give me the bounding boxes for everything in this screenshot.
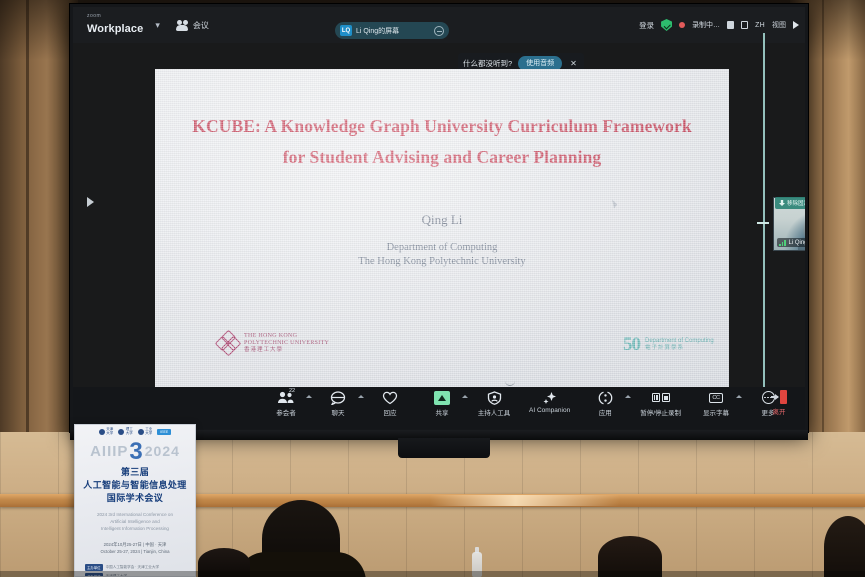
sponsor-logo-1: 天津大学 <box>99 428 114 435</box>
toolbar-chat-label: 聊天 <box>332 407 345 417</box>
login-button[interactable]: 登录 <box>639 20 654 31</box>
polyu-diamond-logo-icon <box>217 332 239 354</box>
chevron-down-icon[interactable] <box>306 395 312 398</box>
toolbar-ai-companion[interactable]: AI Companion <box>529 390 570 414</box>
poster-cn-line1: 第三届 <box>75 466 195 479</box>
zoom-logo-big: Workplace <box>87 23 143 35</box>
computing-logo-text: Department of Computing 電子計算學系 <box>645 338 714 352</box>
conference-room-photo: zoom Workplace ▾ 会议 登录 录制中… ZH 视图 <box>0 0 865 577</box>
shield-check-icon[interactable] <box>661 19 672 31</box>
poster-en-line3: Intelligent Information Processing <box>84 526 186 533</box>
meeting-indicator[interactable]: 会议 <box>176 20 209 31</box>
slide-title-line1: KCUBE: A Knowledge Graph University Curr… <box>181 111 703 142</box>
participants-count: 22 <box>289 388 295 394</box>
zoom-meeting-screen: zoom Workplace ▾ 会议 登录 录制中… ZH 视图 <box>73 7 805 429</box>
display-stand <box>398 438 490 458</box>
slide-author: Qing Li <box>155 212 729 228</box>
anniversary-number: 50 <box>623 335 640 354</box>
remove-pin-video-button[interactable]: 移除固定视频 <box>775 197 805 209</box>
record-dot-icon <box>679 22 685 28</box>
polyu-logo: The Hong Kong Polytechnic University 香港理… <box>217 332 329 354</box>
polyu-logo-text: The Hong Kong Polytechnic University 香港理… <box>244 333 329 354</box>
chevron-down-icon[interactable]: ▾ <box>155 20 160 31</box>
mouse-cursor-icon <box>612 199 618 209</box>
participant-name: Li Qing <box>789 240 806 246</box>
toolbar-captions[interactable]: CC 显示字幕 <box>699 390 733 417</box>
reactions-icon <box>381 390 399 405</box>
poster-date: 2024年10月25-27日 | 中国 · 天津 October 25-27, … <box>75 542 195 556</box>
leave-meeting-icon <box>771 390 787 404</box>
poster-cn-line3: 国际学术会议 <box>75 492 195 505</box>
view-button-label[interactable]: 视图 <box>772 20 786 30</box>
polyu-line3: 香港理工大學 <box>244 347 329 353</box>
audience-person <box>262 500 340 577</box>
audio-banner-text: 什么都没听到? <box>463 58 512 69</box>
panel-outline-icon[interactable] <box>741 21 748 29</box>
chevron-down-icon[interactable] <box>462 395 468 398</box>
recording-status-label: 录制中… <box>692 20 720 30</box>
zoom-logo-small: zoom <box>87 14 143 19</box>
polyu-line2: Polytechnic University <box>244 340 329 347</box>
host-tools-icon <box>485 390 503 405</box>
topbar-right-cluster: 登录 录制中… ZH 视图 <box>639 7 799 43</box>
computing-dept-logo: 50 Department of Computing 電子計算學系 <box>623 335 714 354</box>
toolbar-apps[interactable]: 应用 <box>588 390 622 417</box>
poster-date-en: October 25-27, 2024 | Tianjin, China <box>75 549 195 556</box>
poster-cn-line2: 人工智能与智能信息处理 <box>75 479 195 492</box>
toolbar-recording[interactable]: 暂停/停止录制 <box>640 390 681 417</box>
chevron-down-icon[interactable] <box>625 395 631 398</box>
captions-icon: CC <box>707 390 725 405</box>
toolbar-apps-label: 应用 <box>599 407 612 417</box>
play-triangle-icon[interactable] <box>793 21 799 29</box>
avatar: LQ <box>340 25 352 36</box>
poster-sponsor-logos: 天津大学 理工大学 工业大学 IEEE <box>75 425 195 438</box>
recording-icon <box>652 390 670 405</box>
desk-edge <box>0 571 865 577</box>
poster-year: 2024 <box>145 443 180 459</box>
shared-slide: KCUBE: A Knowledge Graph University Curr… <box>155 69 729 391</box>
sponsor-logo-3: 工业大学 <box>138 428 153 435</box>
poster-date-cn: 2024年10月25-27日 | 中国 · 天津 <box>75 542 195 549</box>
screen-share-label: Li Qing的屏幕 <box>356 26 430 36</box>
zoom-bottom-toolbar: 22 参会者 聊天 <box>73 387 805 429</box>
conference-poster: 天津大学 理工大学 工业大学 IEEE AIIIP32024 第三届 人工智能与… <box>74 424 196 577</box>
poster-brand: AIIIP32024 <box>75 440 195 462</box>
sponsor-logo-4: IEEE <box>157 429 171 435</box>
wall-display: zoom Workplace ▾ 会议 登录 录制中… ZH 视图 <box>70 4 808 432</box>
toolbar-host-tools-label: 主持人工具 <box>478 407 511 417</box>
toolbar-ai-companion-label: AI Companion <box>529 407 570 414</box>
toolbar-recording-label: 暂停/停止录制 <box>640 407 681 417</box>
toolbar-chat[interactable]: 聊天 <box>321 390 355 417</box>
video-tile-actions: 移除固定视频 取消固定 <box>775 197 805 209</box>
slide-title-line2: for Student Advising and Career Planning <box>181 142 703 173</box>
computing-line2: 電子計算學系 <box>645 345 714 352</box>
screen-share-indicator[interactable]: LQ Li Qing的屏幕 <box>335 22 449 39</box>
toolbar-host-tools[interactable]: 主持人工具 <box>477 390 511 417</box>
toolbar-items: 22 参会者 聊天 <box>269 390 785 417</box>
poster-title-en: 2024 3rd International Conference on Art… <box>75 512 195 533</box>
toolbar-participants[interactable]: 22 参会者 <box>269 390 303 417</box>
people-icon <box>176 20 189 31</box>
zoom-logo: zoom Workplace <box>87 14 143 36</box>
audience-person <box>824 516 865 577</box>
computing-line1: Department of Computing <box>645 338 714 345</box>
minus-circle-icon[interactable] <box>434 26 444 36</box>
poster-brand-text: AIIIP <box>90 443 128 460</box>
sponsor-logo-2: 理工大学 <box>118 428 133 435</box>
chevron-down-icon[interactable] <box>358 395 364 398</box>
poster-en-line1: 2024 3rd International Conference on <box>84 512 186 519</box>
wall-trim-glint <box>430 495 620 506</box>
close-icon[interactable]: ✕ <box>568 59 579 68</box>
apps-icon <box>596 390 614 405</box>
toolbar-participants-label: 参会者 <box>276 407 296 417</box>
share-screen-icon <box>433 390 451 405</box>
leave-meeting-label: 离开 <box>773 406 786 416</box>
toolbar-share-screen[interactable]: 共享 <box>425 390 459 417</box>
organizer-tag: 主办单位 <box>85 564 103 571</box>
drag-handle-icon[interactable] <box>757 222 769 224</box>
slide-affiliation: Department of Computing The Hong Kong Po… <box>155 241 729 269</box>
polyu-line1: The Hong Kong <box>244 333 329 340</box>
audio-level-icon <box>779 239 786 246</box>
meeting-label: 会议 <box>193 20 209 31</box>
panel-filled-icon[interactable] <box>727 21 734 29</box>
slide-title: KCUBE: A Knowledge Graph University Curr… <box>181 111 703 172</box>
ai-companion-icon <box>541 390 559 405</box>
participant-name-badge: Li Qing <box>777 238 805 247</box>
toolbar-reactions-label: 回应 <box>384 407 397 417</box>
toolbar-captions-label: 显示字幕 <box>703 407 729 417</box>
poster-edition-number: 3 <box>129 438 143 465</box>
download-icon <box>779 200 785 206</box>
poster-title-cn: 第三届 人工智能与智能信息处理 国际学术会议 <box>75 466 195 505</box>
slide-affiliation-line1: Department of Computing <box>155 241 729 255</box>
toolbar-reactions[interactable]: 回应 <box>373 390 407 417</box>
toolbar-share-label: 共享 <box>436 407 449 417</box>
slide-affiliation-line2: The Hong Kong Polytechnic University <box>155 255 729 269</box>
ime-indicator[interactable]: ZH <box>755 22 765 29</box>
organizer-value: 中国人工智能学会 · 天津工业大学 <box>106 565 160 570</box>
poster-en-line2: Artificial Intelligence and <box>84 519 186 526</box>
leave-meeting-button[interactable]: 离开 <box>771 390 787 416</box>
chat-icon <box>329 390 347 405</box>
remove-pin-label: 移除固定视频 <box>787 199 805 207</box>
play-arrow-icon[interactable] <box>87 197 94 207</box>
list-item: 主办单位 中国人工智能学会 · 天津工业大学 <box>85 564 185 571</box>
vertical-annotation-line[interactable] <box>763 33 765 405</box>
chevron-down-icon[interactable] <box>736 395 742 398</box>
